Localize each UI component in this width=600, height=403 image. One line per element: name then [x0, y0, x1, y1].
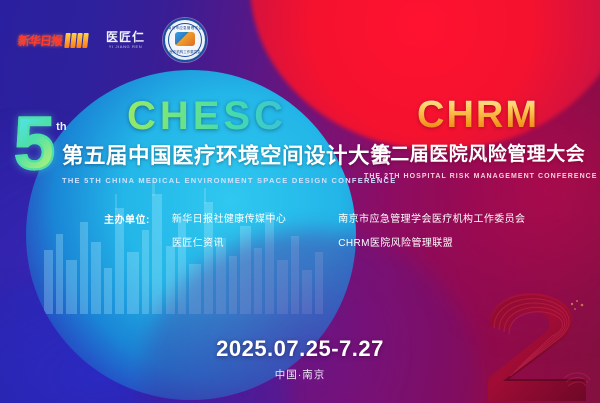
conference-poster: 新华日报 医匠仁 YI JIANG REN 南京市应急管理学会 医疗机构工作委员…: [0, 0, 600, 403]
background-blob-magenta: [400, 40, 600, 340]
chesc-title-en: THE 5TH CHINA MEDICAL ENVIRONMENT SPACE …: [62, 176, 352, 185]
yijiangren-logo: 医匠仁 YI JIANG REN: [106, 31, 145, 49]
event-date-block: 2025.07.25-7.27 中国·南京: [0, 336, 600, 382]
xinhua-daily-logo: 新华日报: [17, 32, 89, 49]
yijiangren-logo-en: YI JIANG REN: [106, 45, 145, 49]
organizers-label: 主办单位:: [104, 210, 150, 226]
partner-logo-row: 新华日报 医匠仁 YI JIANG REN 南京市应急管理学会 医疗机构工作委员…: [18, 18, 207, 62]
edition-numeral: 5 th: [14, 113, 67, 175]
event-date: 2025.07.25-7.27: [0, 336, 600, 362]
organizer-item: 新华日报社健康传媒中心: [172, 210, 286, 225]
event-location: 中国·南京: [0, 367, 600, 382]
organizers-column-2: 南京市应急管理学会医疗机构工作委员会 CHRM医院风险管理联盟: [338, 210, 525, 249]
organizer-item: 南京市应急管理学会医疗机构工作委员会: [338, 210, 525, 225]
seal-emblem-icon: [175, 32, 195, 46]
organizer-item: CHRM医院风险管理联盟: [338, 234, 525, 249]
chesc-conference-block: CHESC 第五届中国医疗环境空间设计大会 THE 5TH CHINA MEDI…: [62, 96, 352, 185]
xinhua-logo-bars-icon: [64, 33, 89, 48]
chesc-acronym: CHESC: [62, 96, 352, 136]
seal-top-text: 南京市应急管理学会: [165, 26, 205, 31]
chrm-title-cn: 第二届医院风险管理大会: [364, 139, 592, 166]
edition-numeral-digit: 5: [14, 113, 53, 175]
yijiangren-logo-cn: 医匠仁: [106, 31, 145, 43]
association-seal-logo: 南京市应急管理学会 医疗机构工作委员会: [163, 18, 207, 62]
xinhua-logo-text: 新华日报: [17, 32, 63, 49]
organizers-section: 主办单位: 新华日报社健康传媒中心 医匠仁资讯 南京市应急管理学会医疗机构工作委…: [104, 210, 525, 249]
chrm-conference-block: CHRM 第二届医院风险管理大会 THE 2TH HOSPITAL RISK M…: [364, 96, 592, 180]
chrm-title-en: THE 2TH HOSPITAL RISK MANAGEMENT CONFERE…: [364, 173, 592, 180]
organizers-column-1: 新华日报社健康传媒中心 医匠仁资讯: [172, 210, 286, 249]
chrm-acronym: CHRM: [364, 96, 592, 134]
chesc-title-cn: 第五届中国医疗环境空间设计大会: [62, 139, 352, 170]
seal-bottom-text: 医疗机构工作委员会: [165, 50, 205, 55]
organizer-item: 医匠仁资讯: [172, 234, 286, 249]
